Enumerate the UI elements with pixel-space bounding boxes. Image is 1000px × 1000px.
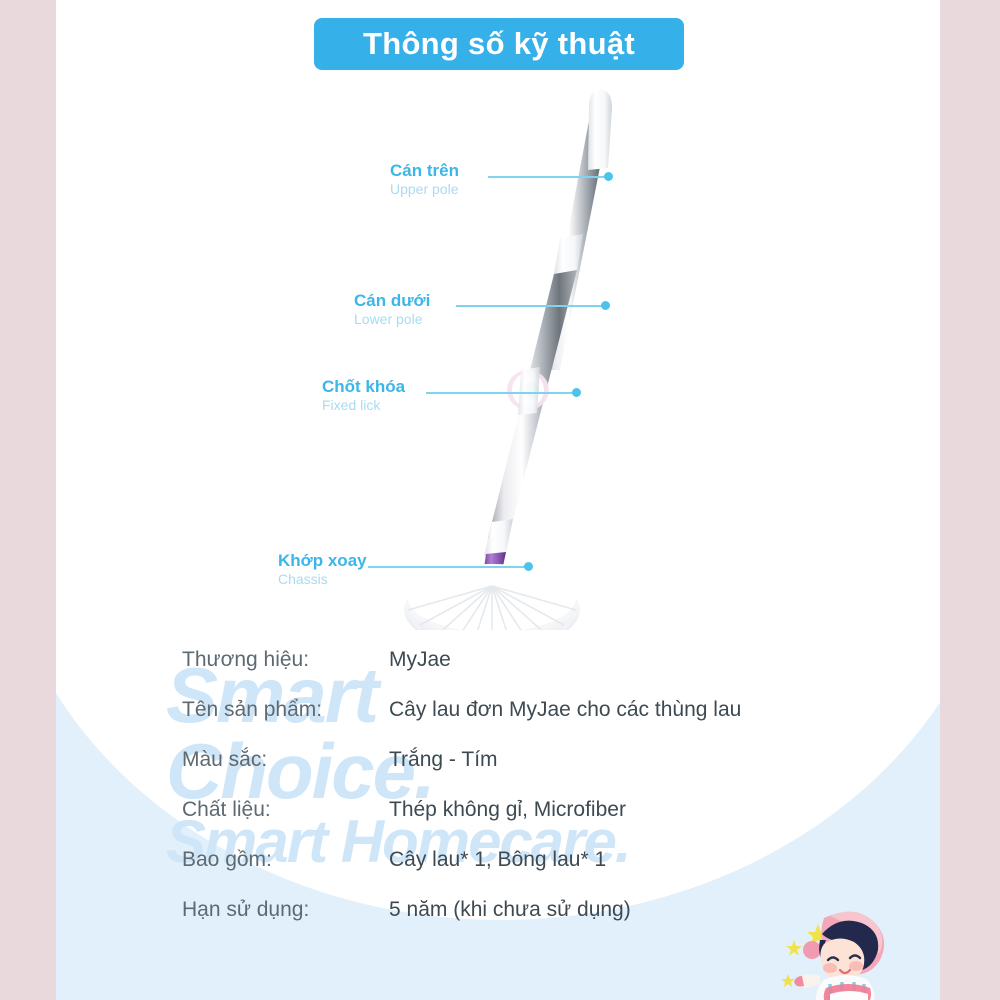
page-root: Smart Choice. Smart Homecare. (0, 0, 1000, 1000)
table-row: Chất liệu: Thép không gỉ, Microfiber (182, 798, 922, 848)
leader-line-lock (426, 392, 576, 394)
callout-chassis-en: Chassis (278, 571, 367, 587)
product-image (56, 70, 940, 630)
callout-chassis: Khớp xoay Chassis (278, 552, 367, 587)
spec-value: Cây lau* 1, Bông lau* 1 (389, 848, 606, 872)
table-row: Thương hiệu: MyJae (182, 648, 922, 698)
lower-sleeve-graphic (484, 519, 513, 558)
spec-value: Cây lau đơn MyJae cho các thùng lau (389, 698, 741, 722)
callout-lock: Chốt khóa Fixed lick (322, 378, 405, 413)
spec-label: Tên sản phẩm: (182, 698, 389, 722)
leader-line-lower (456, 305, 606, 307)
leader-line-chassis (368, 566, 528, 568)
callout-upper-pole: Cán trên Upper pole (390, 162, 459, 197)
table-row: Tên sản phẩm: Cây lau đơn MyJae cho các … (182, 698, 922, 748)
mop-head-graphic (404, 564, 580, 630)
spec-label: Màu sắc: (182, 748, 389, 772)
handle-grip-graphic (588, 89, 612, 170)
callout-lock-en: Fixed lick (322, 397, 405, 413)
callout-lock-vi: Chốt khóa (322, 378, 405, 396)
leader-dot-lock (572, 388, 581, 397)
leader-line-upper (488, 176, 608, 178)
spec-value: MyJae (389, 648, 451, 672)
spec-value: Trắng - Tím (389, 748, 498, 772)
callout-upper-pole-vi: Cán trên (390, 162, 459, 180)
callout-lower-pole-vi: Cán dưới (354, 292, 430, 310)
mascot-girl-icon (772, 888, 902, 1000)
leader-dot-chassis (524, 562, 533, 571)
spec-value: 5 năm (khi chưa sử dụng) (389, 898, 631, 922)
table-row: Màu sắc: Trắng - Tím (182, 748, 922, 798)
page-title-banner: Thông số kỹ thuật (314, 18, 684, 70)
callout-upper-pole-en: Upper pole (390, 181, 459, 197)
mop-illustration (56, 70, 940, 630)
spec-value: Thép không gỉ, Microfiber (389, 798, 626, 822)
spec-label: Bao gồm: (182, 848, 389, 872)
leader-dot-lower (601, 301, 610, 310)
callout-lower-pole: Cán dưới Lower pole (354, 292, 430, 327)
leader-dot-upper (604, 172, 613, 181)
callout-lower-pole-en: Lower pole (354, 311, 430, 327)
spec-label: Thương hiệu: (182, 648, 389, 672)
callout-chassis-vi: Khớp xoay (278, 552, 367, 570)
page-title: Thông số kỹ thuật (363, 26, 635, 62)
spec-label: Hạn sử dụng: (182, 898, 389, 922)
spec-label: Chất liệu: (182, 798, 389, 822)
content-panel: Smart Choice. Smart Homecare. (56, 0, 940, 1000)
